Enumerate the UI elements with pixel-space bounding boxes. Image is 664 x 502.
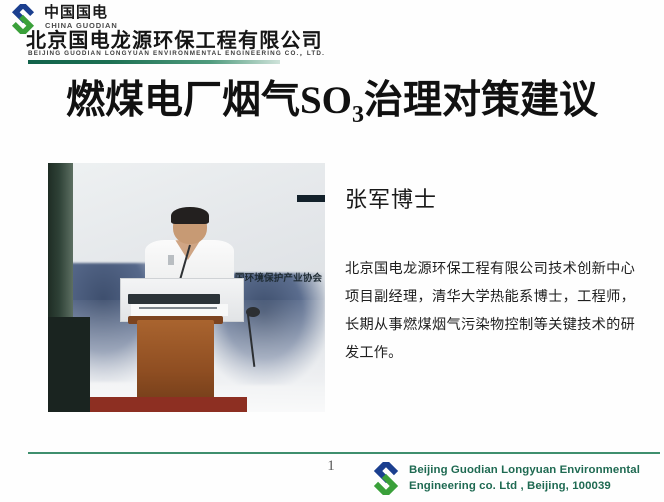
speaker-photo: 中国环境保护产业协会: [48, 163, 325, 412]
title-part-2: 治理对策建议: [364, 78, 598, 123]
company-name-cn: 北京国电龙源环保工程有限公司: [26, 29, 323, 51]
photo-lectern-panel: [128, 294, 219, 304]
photo-speaker-badge: [168, 255, 174, 265]
photo-screen-edge: [297, 195, 325, 201]
page-number: 1: [322, 458, 340, 475]
footer-divider: [28, 452, 660, 454]
page-title: 燃煤电厂烟气SO3治理对策建议: [0, 78, 664, 138]
title-formula-main: SO: [300, 79, 352, 122]
footer-company-address: Beijing Guodian Longyuan Environmental E…: [409, 463, 640, 494]
photo-lectern-emblem: [131, 304, 228, 316]
title-formula-subscript: 3: [352, 102, 364, 128]
title-part-1: 燃煤电厂烟气: [66, 78, 300, 123]
brand-name-cn: 中国国电: [44, 4, 108, 20]
speaker-name: 张军博士: [345, 182, 437, 214]
slide-header: 中国国电 CHINA GUODIAN 北京国电龙源环保工程有限公司 BEIJIN…: [0, 0, 664, 66]
photo-speaker-hair: [171, 207, 208, 224]
photo-lectern-emblem-text: [139, 307, 217, 309]
photo-floor: [76, 397, 248, 412]
company-name-en: BEIJING GUODIAN LONGYUAN ENVIRONMENTAL E…: [28, 50, 325, 58]
footer-line-1: Beijing Guodian Longyuan Environmental: [409, 463, 640, 479]
slide-canvas: 中国国电 CHINA GUODIAN 北京国电龙源环保工程有限公司 BEIJIN…: [0, 0, 664, 502]
footer-line-2: Engineering co. Ltd , Beijing, 100039: [409, 479, 640, 495]
speaker-biography: 北京国电龙源环保工程有限公司技术创新中心项目副经理，清华大学热能系博士，工程师，…: [345, 255, 635, 367]
photo-dark-foreground: [48, 317, 90, 412]
guodian-logo-icon-footer: [368, 462, 404, 495]
header-divider: [28, 60, 280, 64]
